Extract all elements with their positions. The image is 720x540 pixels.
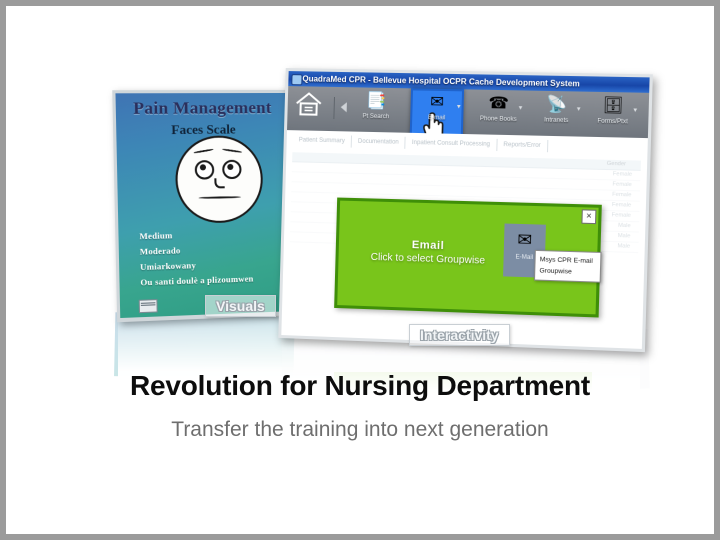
language-label: Moderado xyxy=(140,243,253,256)
toolbar-item-drug-info[interactable]: 💊 Drug Info ▾ xyxy=(646,96,650,136)
left-screenshot-pain-management[interactable]: Pain Management Faces Scale Medium Moder… xyxy=(112,90,296,322)
close-icon[interactable]: × xyxy=(581,209,596,224)
dialog-message: Email Click to select Groupwise xyxy=(357,237,500,267)
chevron-down-icon[interactable]: ▾ xyxy=(633,106,637,114)
language-label: Ou santi doulè a plizoumwen xyxy=(140,273,253,287)
toolbar-item-label: Intranets xyxy=(533,116,579,125)
toolbar-item-label: Forms/Ptxt xyxy=(589,117,635,126)
presentation-slide: Pain Management Faces Scale Medium Moder… xyxy=(6,6,714,534)
toolbar-item-email[interactable]: ✉ E-mail ▾ xyxy=(414,91,460,130)
home-icon[interactable] xyxy=(293,90,328,121)
language-label: Umiarkowany xyxy=(140,258,253,272)
toolbar-item-label: Drug Info xyxy=(646,119,650,128)
menu-item-groupwise[interactable]: Groupwise xyxy=(535,265,600,278)
toolbar-item-intranets[interactable]: 📡 Intranets ▾ xyxy=(533,94,580,134)
patient-search-icon: 📑 xyxy=(354,90,399,113)
page-title: Revolution for Nursing Department xyxy=(6,370,714,402)
right-screenshot-quadramed-cpr[interactable]: QuadraMed CPR - Bellevue Hospital OCPR C… xyxy=(278,68,653,352)
toolbar-item-phone-books[interactable]: ☎ Phone Books ▾ xyxy=(475,93,521,133)
language-label-list: Medium Moderado Umiarkowany Ou santi dou… xyxy=(139,228,253,292)
dialog-instruction: Click to select Groupwise xyxy=(357,251,500,267)
tab-strip[interactable]: Patient SummaryDocumentationInpatient Co… xyxy=(293,134,642,154)
toolbar-divider xyxy=(333,97,335,119)
toolbar-item-pt-search[interactable]: 📑 Pt Search xyxy=(353,90,399,129)
language-label: Medium xyxy=(139,228,252,241)
callout-visuals: Visuals xyxy=(205,295,276,317)
toolbar-item-label: E-mail xyxy=(414,114,459,123)
tab-inpatient-consult[interactable]: Inpatient Consult Processing xyxy=(406,137,498,151)
window-content-area: Patient SummaryDocumentationInpatient Co… xyxy=(281,130,648,349)
chevron-down-icon[interactable]: ▾ xyxy=(519,104,523,112)
screenshot-collage: Pain Management Faces Scale Medium Moder… xyxy=(6,6,714,366)
faces-scale-subtitle: Faces Scale xyxy=(116,121,289,139)
email-provider-dropdown-menu[interactable]: Msys CPR E-mail Groupwise xyxy=(534,250,602,283)
page-subtitle: Transfer the training into next generati… xyxy=(6,418,714,442)
intranet-tower-icon: 📡 xyxy=(533,94,579,117)
email-envelope-icon: ✉ xyxy=(414,91,460,114)
tab-reports[interactable]: Reports/Error xyxy=(497,139,548,152)
toolbar-item-label: Phone Books xyxy=(475,115,521,124)
toolbar-item-forms[interactable]: 🗄 Forms/Ptxt ▾ xyxy=(589,95,636,135)
app-icon xyxy=(291,74,302,85)
pain-management-title: Pain Management xyxy=(116,98,289,119)
back-arrow-icon[interactable] xyxy=(341,102,347,112)
slide-corner-icon xyxy=(139,299,158,313)
tab-documentation[interactable]: Documentation xyxy=(352,136,406,149)
forms-icon: 🗄 xyxy=(590,95,637,118)
pill-capsule-icon: 💊 xyxy=(646,96,649,120)
callout-interactivity: Interactivity xyxy=(409,324,510,346)
tab-patient-summary[interactable]: Patient Summary xyxy=(293,134,352,147)
chevron-down-icon[interactable]: ▾ xyxy=(457,102,461,110)
toolbar-item-label: Pt Search xyxy=(353,112,398,121)
chevron-down-icon[interactable]: ▾ xyxy=(577,105,581,113)
telephone-icon: ☎ xyxy=(476,93,522,116)
neutral-face-icon xyxy=(175,135,264,224)
email-selection-dialog[interactable]: × Email Click to select Groupwise ✉ E-Ma… xyxy=(334,198,602,318)
